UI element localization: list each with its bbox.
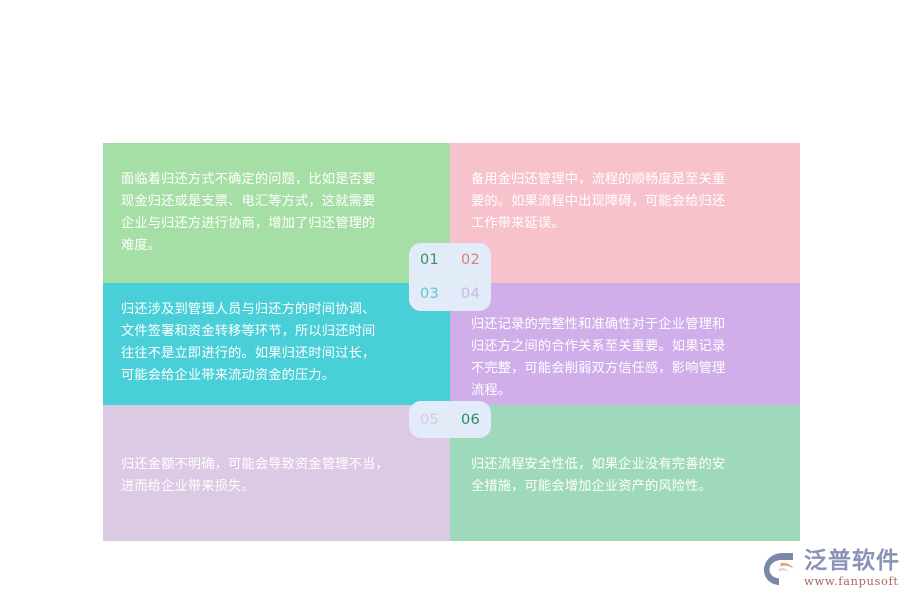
company-logo: 泛普软件 www.fanpusoft.com: [762, 546, 898, 592]
quadrant-text-02: 备用金归还管理中，流程的顺畅度是至关重 要的。如果流程中出现障碍，可能会给归还 …: [450, 143, 745, 235]
fanpu-logo-icon: [762, 551, 802, 587]
quadrant-cell-01: 面临着归还方式不确定的问题，比如是否要 现金归还或是支票、电汇等方式，这就需要 …: [103, 143, 450, 283]
badge-number-01: 01: [420, 252, 439, 268]
quadrant-cell-02: 备用金归还管理中，流程的顺畅度是至关重 要的。如果流程中出现障碍，可能会给归还 …: [450, 143, 800, 283]
badge-group-bottom: 05 06: [409, 401, 491, 438]
quadrant-cell-06: 归还流程安全性低，如果企业没有完善的安 全措施，可能会增加企业资产的风险性。: [450, 405, 800, 541]
quadrant-text-06: 归还流程安全性低，如果企业没有完善的安 全措施，可能会增加企业资产的风险性。: [450, 405, 745, 498]
quadrant-cell-03: 归还涉及到管理人员与归还方的时间协调、 文件签署和资金转移等环节，所以归还时间 …: [103, 283, 450, 405]
quadrant-text-03: 归还涉及到管理人员与归还方的时间协调、 文件签署和资金转移等环节，所以归还时间 …: [103, 283, 397, 387]
badge-group-top: 01 02 03 04: [409, 243, 491, 311]
quadrant-text-05: 归还金额不明确，可能会导致资金管理不当， 进而给企业带来损失。: [103, 405, 411, 498]
quadrant-board: 面临着归还方式不确定的问题，比如是否要 现金归还或是支票、电汇等方式，这就需要 …: [103, 143, 800, 541]
badge-number-02: 02: [461, 252, 480, 268]
logo-website-url: www.fanpusoft.com: [804, 576, 900, 588]
badge-number-06: 06: [461, 412, 480, 428]
badge-number-03: 03: [420, 286, 439, 302]
logo-text-block: 泛普软件 www.fanpusoft.com: [804, 550, 900, 588]
badge-number-05: 05: [420, 412, 439, 428]
quadrant-text-04: 归还记录的完整性和准确性对于企业管理和 归还方之间的合作关系至关重要。如果记录 …: [450, 283, 745, 402]
logo-company-name: 泛普软件: [804, 550, 900, 573]
badge-number-04: 04: [461, 286, 480, 302]
quadrant-text-01: 面临着归还方式不确定的问题，比如是否要 现金归还或是支票、电汇等方式，这就需要 …: [103, 143, 397, 257]
quadrant-cell-04: 归还记录的完整性和准确性对于企业管理和 归还方之间的合作关系至关重要。如果记录 …: [450, 283, 800, 405]
quadrant-cell-05: 归还金额不明确，可能会导致资金管理不当， 进而给企业带来损失。: [103, 405, 450, 541]
